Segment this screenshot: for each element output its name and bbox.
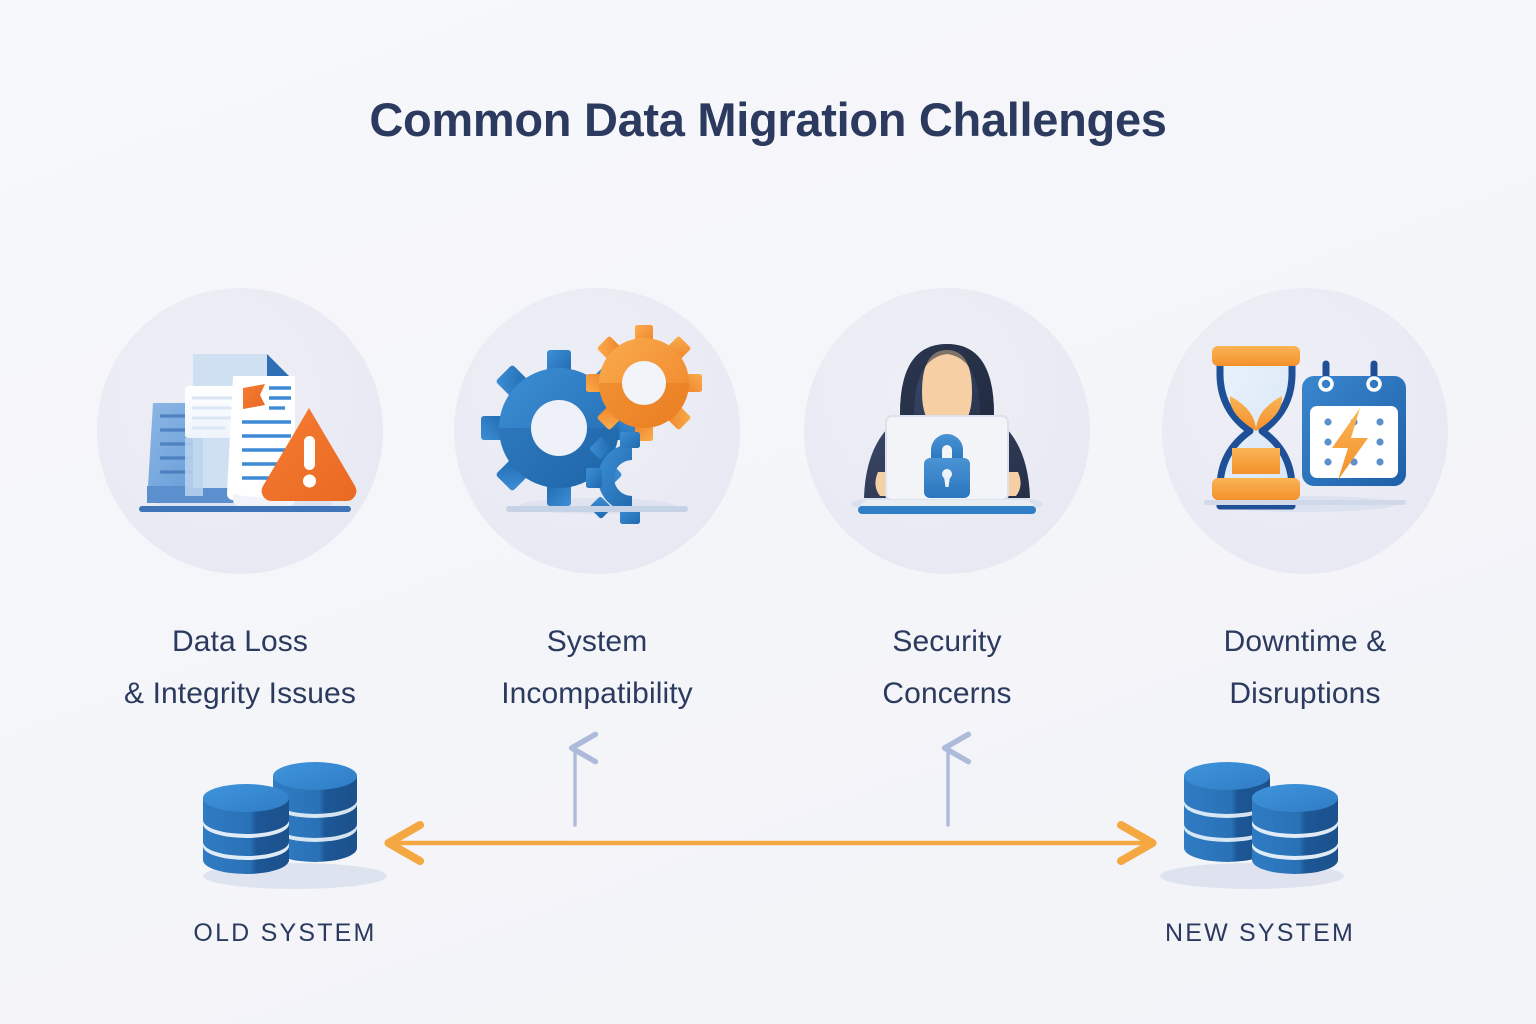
- old-system-block[interactable]: OLD SYSTEM: [125, 748, 445, 948]
- challenge-caption-line2: Concerns: [777, 668, 1117, 720]
- challenge-icon-circle: [97, 288, 383, 574]
- challenge-card-downtime-disruptions[interactable]: Downtime & Disruptions: [1135, 288, 1475, 719]
- challenge-caption: Security Concerns: [777, 616, 1117, 719]
- challenge-icon-circle: [1162, 288, 1448, 574]
- challenge-card-data-loss[interactable]: Data Loss & Integrity Issues: [70, 288, 410, 719]
- challenge-caption-line2: & Integrity Issues: [70, 668, 410, 720]
- database-stack-icon: [165, 748, 405, 898]
- challenge-icon-circle: [454, 288, 740, 574]
- infographic-canvas: Common Data Migration Challenges: [0, 0, 1536, 1024]
- page-title: Common Data Migration Challenges: [0, 92, 1536, 147]
- challenge-caption-line2: Disruptions: [1135, 668, 1475, 720]
- challenge-card-system-incompatibility[interactable]: System Incompatibility: [427, 288, 767, 719]
- challenge-card-security-concerns[interactable]: Security Concerns: [777, 288, 1117, 719]
- new-system-block[interactable]: NEW SYSTEM: [1100, 748, 1420, 948]
- database-cylinder-front: [203, 784, 289, 874]
- gears-icon: [454, 288, 740, 574]
- challenge-caption-line2: Incompatibility: [427, 668, 767, 720]
- challenge-caption-line1: Security: [777, 616, 1117, 668]
- hacker-laptop-lock-icon: [804, 288, 1090, 574]
- database-cylinder-front: [1252, 784, 1338, 874]
- challenge-caption-line1: System: [427, 616, 767, 668]
- challenge-caption: Data Loss & Integrity Issues: [70, 616, 410, 719]
- challenge-caption-line1: Downtime &: [1135, 616, 1475, 668]
- hourglass-calendar-icon: [1162, 288, 1448, 574]
- challenge-caption: Downtime & Disruptions: [1135, 616, 1475, 719]
- challenge-caption-line1: Data Loss: [70, 616, 410, 668]
- challenge-icon-circle: [804, 288, 1090, 574]
- old-system-label: OLD SYSTEM: [125, 919, 445, 948]
- new-system-label: NEW SYSTEM: [1100, 919, 1420, 948]
- challenge-caption: System Incompatibility: [427, 616, 767, 719]
- database-stack-icon: [1140, 748, 1380, 898]
- documents-warning-icon: [97, 288, 383, 574]
